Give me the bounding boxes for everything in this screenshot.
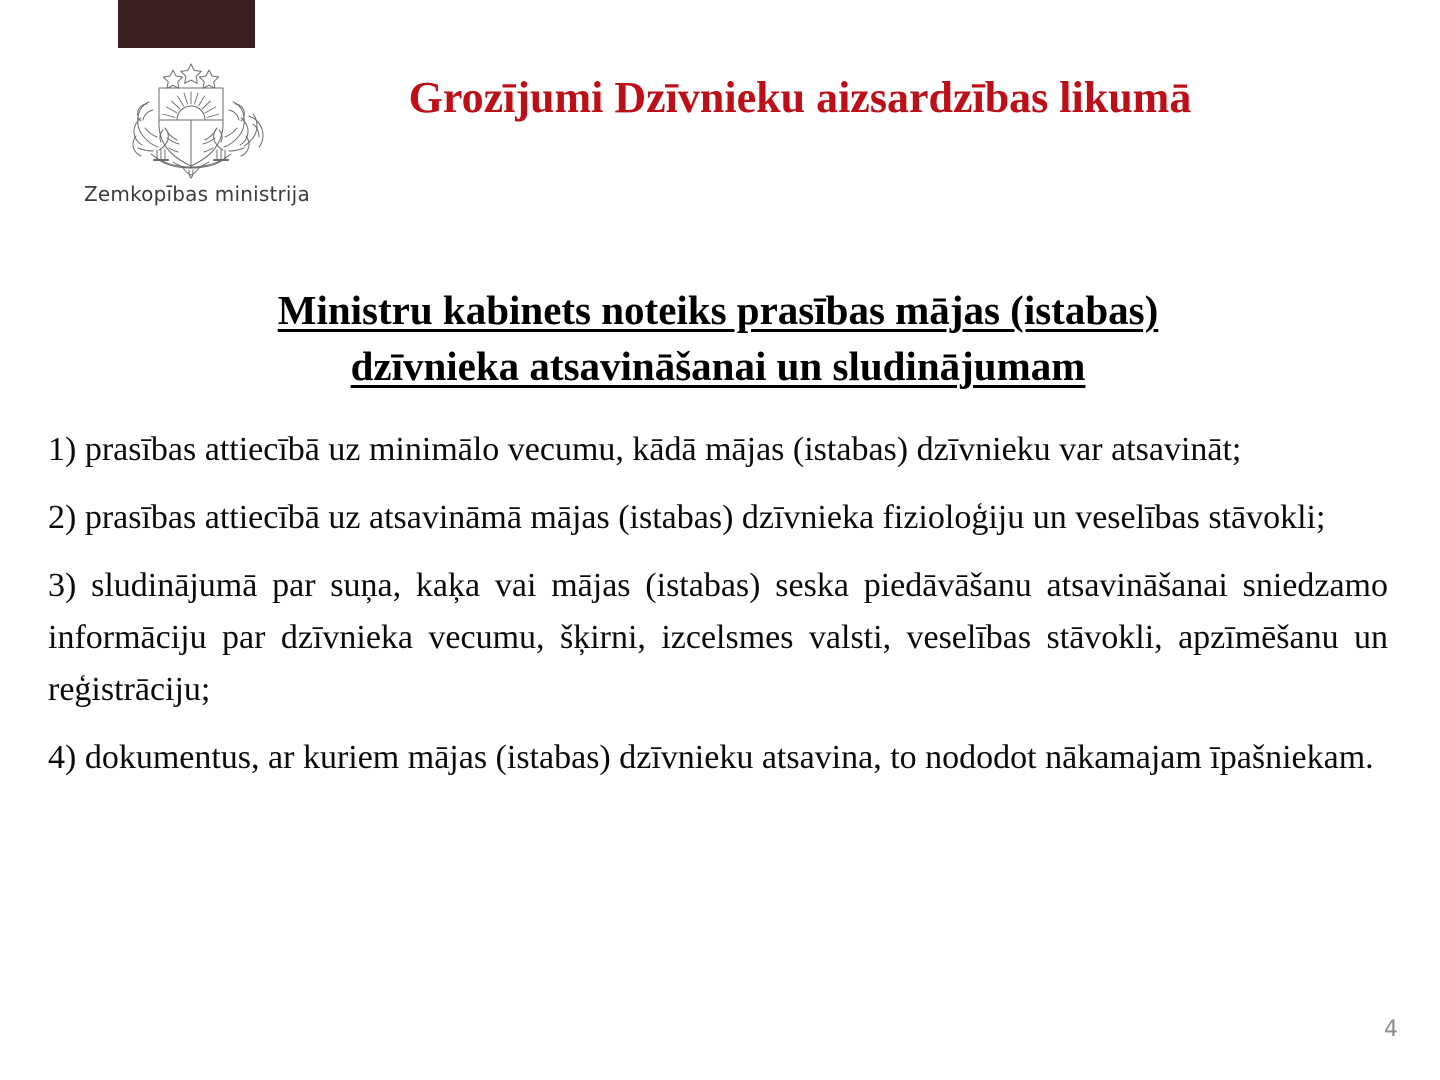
- page-number: 4: [1384, 1017, 1398, 1042]
- clause-item: 1) prasības attiecībā uz minimālo vecumu…: [48, 424, 1388, 476]
- slide-title: Grozījumi Dzīvnieku aizsardzības likumā: [300, 72, 1300, 124]
- slide-header: Zemkopības ministrija Grozījumi Dzīvniek…: [0, 0, 1440, 240]
- ministry-logo-caption: Zemkopības ministrija: [84, 182, 298, 206]
- page-title-line-1: Ministru kabinets noteiks prasības mājas…: [278, 287, 1158, 333]
- clause-list: 1) prasības attiecībā uz minimālo vecumu…: [48, 424, 1388, 784]
- page-title: Ministru kabinets noteiks prasības mājas…: [48, 282, 1388, 394]
- slide-page: { "header": { "title": "Grozījumi Dzīvni…: [0, 0, 1440, 1080]
- page-title-line-2: dzīvnieka atsavināšanai un sludinājumam: [351, 343, 1086, 389]
- clause-item: 2) prasības attiecībā uz atsavināmā māja…: [48, 492, 1388, 544]
- slide-body: Ministru kabinets noteiks prasības mājas…: [48, 282, 1388, 784]
- latvian-coat-of-arms-icon: [103, 58, 279, 180]
- clause-item: 3) sludinājumā par suņa, kaķa vai mājas …: [48, 560, 1388, 716]
- header-accent-bar: [118, 0, 255, 48]
- clause-item: 4) dokumentus, ar kuriem mājas (istabas)…: [48, 732, 1388, 784]
- ministry-logo: Zemkopības ministrija: [84, 58, 298, 206]
